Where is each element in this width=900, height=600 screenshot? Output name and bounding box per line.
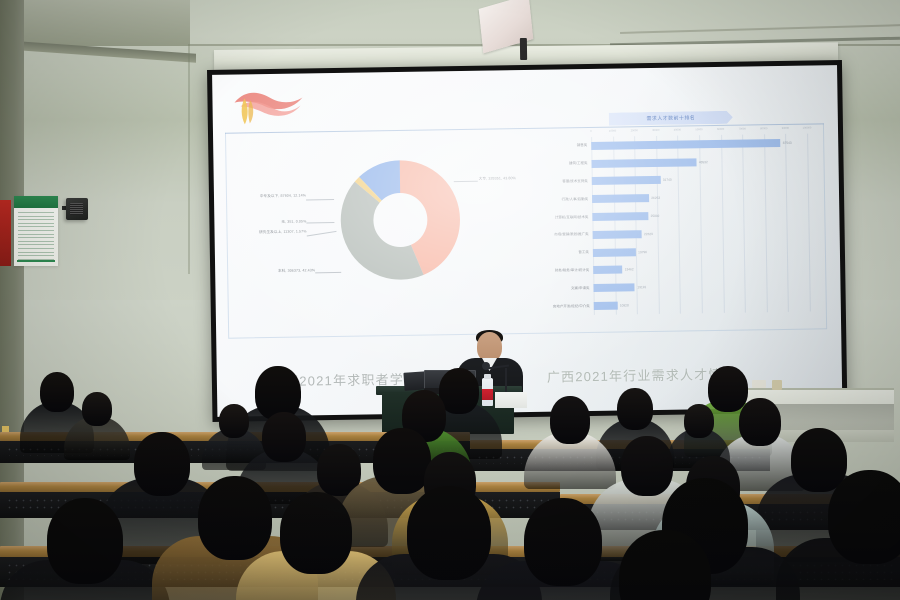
bar-chart-row: 房地产开发/经纪/中介类10928 [534, 294, 810, 316]
bar-chart-plot-area: 销售类87543建筑/工程类48532客服/技术支持类31740行政/人事/后勤… [591, 134, 810, 315]
projection-screen-surface: 大专, 328351, 43.80% 中专及以下, 87604, 12.14% … [212, 65, 842, 417]
bar [591, 158, 696, 168]
audience-member-head [684, 404, 714, 438]
donut-label-benke: 本科, 306373, 42.43% [255, 268, 315, 274]
bar-chart-title-banner: 需求人才数前十排名 [609, 111, 733, 126]
bar-value-label: 26253 [649, 196, 660, 200]
bar-category-label: 文案/申请类 [533, 286, 593, 292]
cabinet-item-2 [772, 380, 782, 390]
x-axis-tick: 100000 [803, 127, 812, 130]
ceiling-soffit [0, 0, 190, 46]
bar-category-label: 普工类 [533, 250, 593, 256]
bar [593, 284, 635, 293]
audience-member [0, 498, 170, 600]
bar [592, 212, 648, 221]
valance-mount-bracket [520, 38, 527, 60]
leader-line-zhongzhuan [306, 199, 334, 200]
audience-member [560, 530, 770, 600]
bar-value-label: 25802 [648, 214, 659, 218]
bar [593, 230, 642, 239]
bar-value-label: 48532 [696, 160, 707, 164]
audience-member-head [619, 530, 711, 600]
audience-member-head [280, 492, 352, 574]
audience-member-head [828, 470, 900, 564]
donut-svg [331, 151, 469, 289]
x-axis-tick: 30000 [652, 129, 659, 132]
audience-member-head [617, 388, 653, 430]
bar-value-label: 19796 [636, 250, 647, 254]
donut-label-dazhuan: 大专, 328351, 43.80% [479, 176, 516, 181]
bar-value-label: 10928 [617, 303, 628, 307]
microphone-stand [505, 368, 507, 392]
audience-member-head [550, 396, 590, 444]
x-axis-tick: 0 [590, 130, 592, 133]
bar-value-label: 22629 [641, 232, 652, 236]
leader-line-wu [306, 222, 334, 223]
wall-notice-poster [14, 196, 58, 266]
x-axis-tick: 80000 [760, 127, 767, 130]
bar [591, 139, 780, 150]
wall-vertical-seam [188, 44, 190, 274]
x-axis-tick: 20000 [631, 129, 638, 132]
bar-category-label: 财务/税务/审计/统计类 [533, 268, 593, 274]
bar [593, 266, 622, 274]
presentation-slide: 大专, 328351, 43.80% 中专及以下, 87604, 12.14% … [212, 65, 842, 417]
x-axis-tick: 90000 [782, 127, 789, 130]
bar [592, 176, 661, 185]
bar-category-label: 销售类 [531, 143, 591, 149]
donut-label-zhongzhuan: 中专及以下, 87604, 12.14% [250, 193, 306, 199]
bar-value-label: 31740 [660, 178, 671, 182]
audience-member-head [82, 392, 112, 426]
bar-value-label: 87543 [780, 141, 791, 145]
poster-header-band [14, 196, 58, 208]
bar-category-label: 房地产开发/经纪/中介类 [534, 304, 594, 310]
audience-member-head [47, 498, 123, 584]
industry-demand-bar-chart: 需求人才数前十排名 010000200003000040000500006000… [531, 109, 816, 323]
donut-label-wu: 无, 351, 0.05% [254, 219, 306, 225]
lecture-hall-scene: 大专, 328351, 43.80% 中专及以下, 87604, 12.14% … [0, 0, 900, 600]
bar-value-label: 19191 [635, 285, 646, 289]
poster-text-lines [18, 212, 54, 258]
x-axis-tick: 50000 [695, 128, 702, 131]
bar-category-label: 计算机/互联网/技术类 [532, 215, 592, 221]
ribbon-ornament-icon [230, 85, 307, 126]
speaker-grill-icon [70, 203, 83, 215]
wall-banner-red [0, 200, 11, 266]
bar-category-label: 建筑/工程类 [531, 161, 591, 167]
x-axis-tick: 60000 [717, 128, 724, 131]
bar-category-label: 市场/营销/策划/推广类 [533, 232, 593, 238]
bar [594, 302, 618, 310]
education-donut-chart: 大专, 328351, 43.80% 中专及以下, 87604, 12.14% … [247, 140, 515, 334]
x-axis-tick: 40000 [674, 129, 681, 132]
poster-footer-band [17, 260, 55, 262]
bar-category-label: 客服/技术支持类 [532, 179, 592, 185]
x-axis-tick: 10000 [609, 130, 616, 133]
bar [592, 194, 649, 203]
bar [593, 248, 636, 257]
bar-value-label: 13462 [622, 268, 633, 272]
audience-member [776, 470, 900, 600]
x-axis-tick: 70000 [739, 128, 746, 131]
bar-category-label: 行政/人事/后勤类 [532, 197, 592, 203]
donut-label-yanjiusheng: 研究生及以上, 11307, 1.57% [249, 229, 307, 235]
